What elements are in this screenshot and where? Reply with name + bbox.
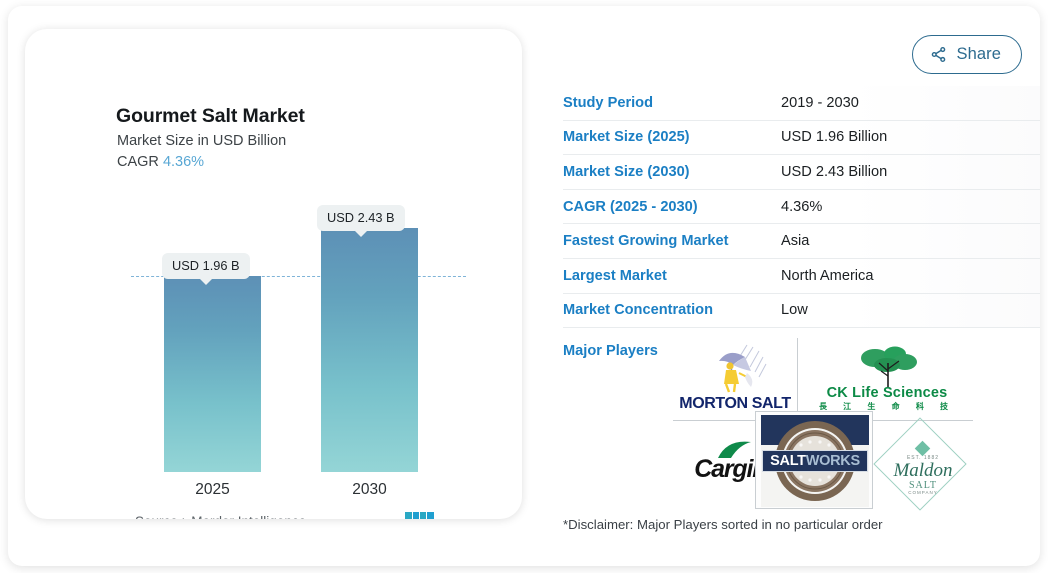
row-value: 4.36% [781,199,822,215]
share-label: Share [956,45,1001,64]
saltworks-text-primary: SALT [770,453,806,469]
saltworks-text-secondary: WORKS [806,453,860,469]
row-key: Largest Market [563,268,781,284]
row-key: Market Concentration [563,302,781,318]
page-card: Share Gourmet Salt Market Market Size in… [8,6,1040,566]
share-nodes-icon [930,46,947,63]
table-row: CAGR (2025 - 2030) 4.36% [563,190,1040,225]
chart-title: Gourmet Salt Market [116,105,305,128]
mordor-intelligence-logo [405,510,435,519]
info-table: Study Period 2019 - 2030 Market Size (20… [563,86,1040,328]
bar-2025[interactable] [164,276,261,472]
x-axis-label-2025: 2025 [164,481,261,499]
maldon-company-text: COMPANY [877,490,969,495]
major-players-label: Major Players [563,343,658,359]
table-row: Fastest Growing Market Asia [563,224,1040,259]
bar-chart-plot: USD 1.96 B USD 2.43 B 2025 2030 [118,179,463,479]
row-key: CAGR (2025 - 2030) [563,199,781,215]
saltworks-logo: SALTWORKS [755,411,873,509]
chart-subtitle: Market Size in USD Billion [117,133,286,149]
saltworks-banner: SALTWORKS [762,450,868,472]
value-label-2030: USD 2.43 B [317,205,405,231]
row-key: Market Size (2025) [563,129,781,145]
row-key: Market Size (2030) [563,164,781,180]
table-row: Market Size (2025) USD 1.96 Billion [563,121,1040,156]
row-value: 2019 - 2030 [781,95,859,111]
chart-card: Gourmet Salt Market Market Size in USD B… [25,29,522,519]
tree-icon [849,345,925,387]
maldon-wordmark: Maldon [877,460,969,482]
players-disclaimer: *Disclaimer: Major Players sorted in no … [563,517,883,532]
source-row: Source : Mordor Intelligence [135,510,435,519]
source-label: Source : [135,514,185,520]
gem-icon [915,441,931,457]
row-key: Fastest Growing Market [563,233,781,249]
x-axis-label-2030: 2030 [321,481,418,499]
bar-2030[interactable] [321,228,418,472]
ck-life-sciences-wordmark: CK Life Sciences [807,385,967,401]
source-name: Mordor Intelligence [191,514,306,520]
row-value: Low [781,302,808,318]
value-label-2025: USD 1.96 B [162,253,250,279]
row-value: North America [781,268,873,284]
table-row: Market Concentration Low [563,294,1040,329]
row-value: USD 1.96 Billion [781,129,887,145]
maldon-salt-logo: EST. 1882 Maldon SALT COMPANY [873,426,973,502]
cagr-label: CAGR [117,154,159,170]
table-row: Study Period 2019 - 2030 [563,86,1040,121]
ck-life-sciences-logo: CK Life Sciences 長 江 生 命 科 技 [803,342,971,418]
table-row: Largest Market North America [563,259,1040,294]
row-value: USD 2.43 Billion [781,164,887,180]
row-key: Study Period [563,95,781,111]
table-row: Market Size (2030) USD 2.43 Billion [563,155,1040,190]
grid-divider-vertical [797,338,798,420]
share-button[interactable]: Share [912,35,1022,74]
chart-cagr: CAGR 4.36% [117,154,204,170]
morton-salt-logo: MORTON SALT [673,340,797,420]
row-value: Asia [781,233,809,249]
cagr-value: 4.36% [163,154,204,170]
morton-umbrella-girl-icon [707,343,771,393]
